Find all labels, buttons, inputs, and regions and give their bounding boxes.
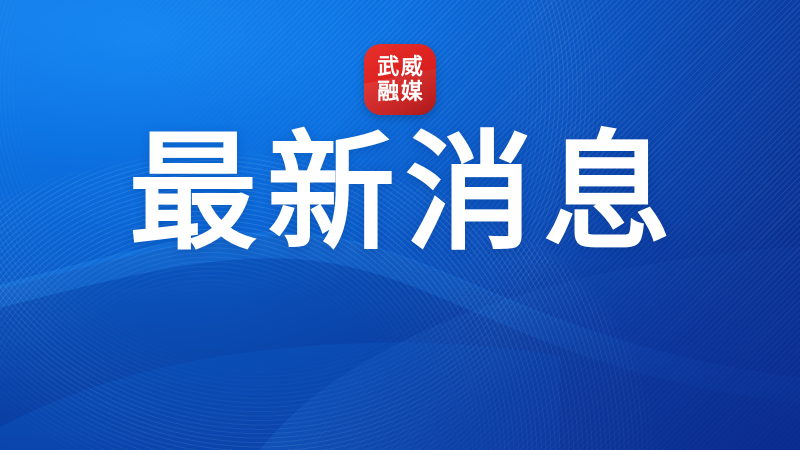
logo-text-line-1: 武威: [376, 55, 425, 80]
headline-text: 最新消息: [119, 129, 681, 260]
logo-text-line-2: 融媒: [376, 80, 425, 105]
wuwei-rongmei-logo: 武威 融媒: [364, 44, 436, 115]
banner-content: 武威 融媒 最新消息: [0, 0, 800, 450]
news-banner: 武威 融媒 最新消息: [0, 0, 800, 450]
